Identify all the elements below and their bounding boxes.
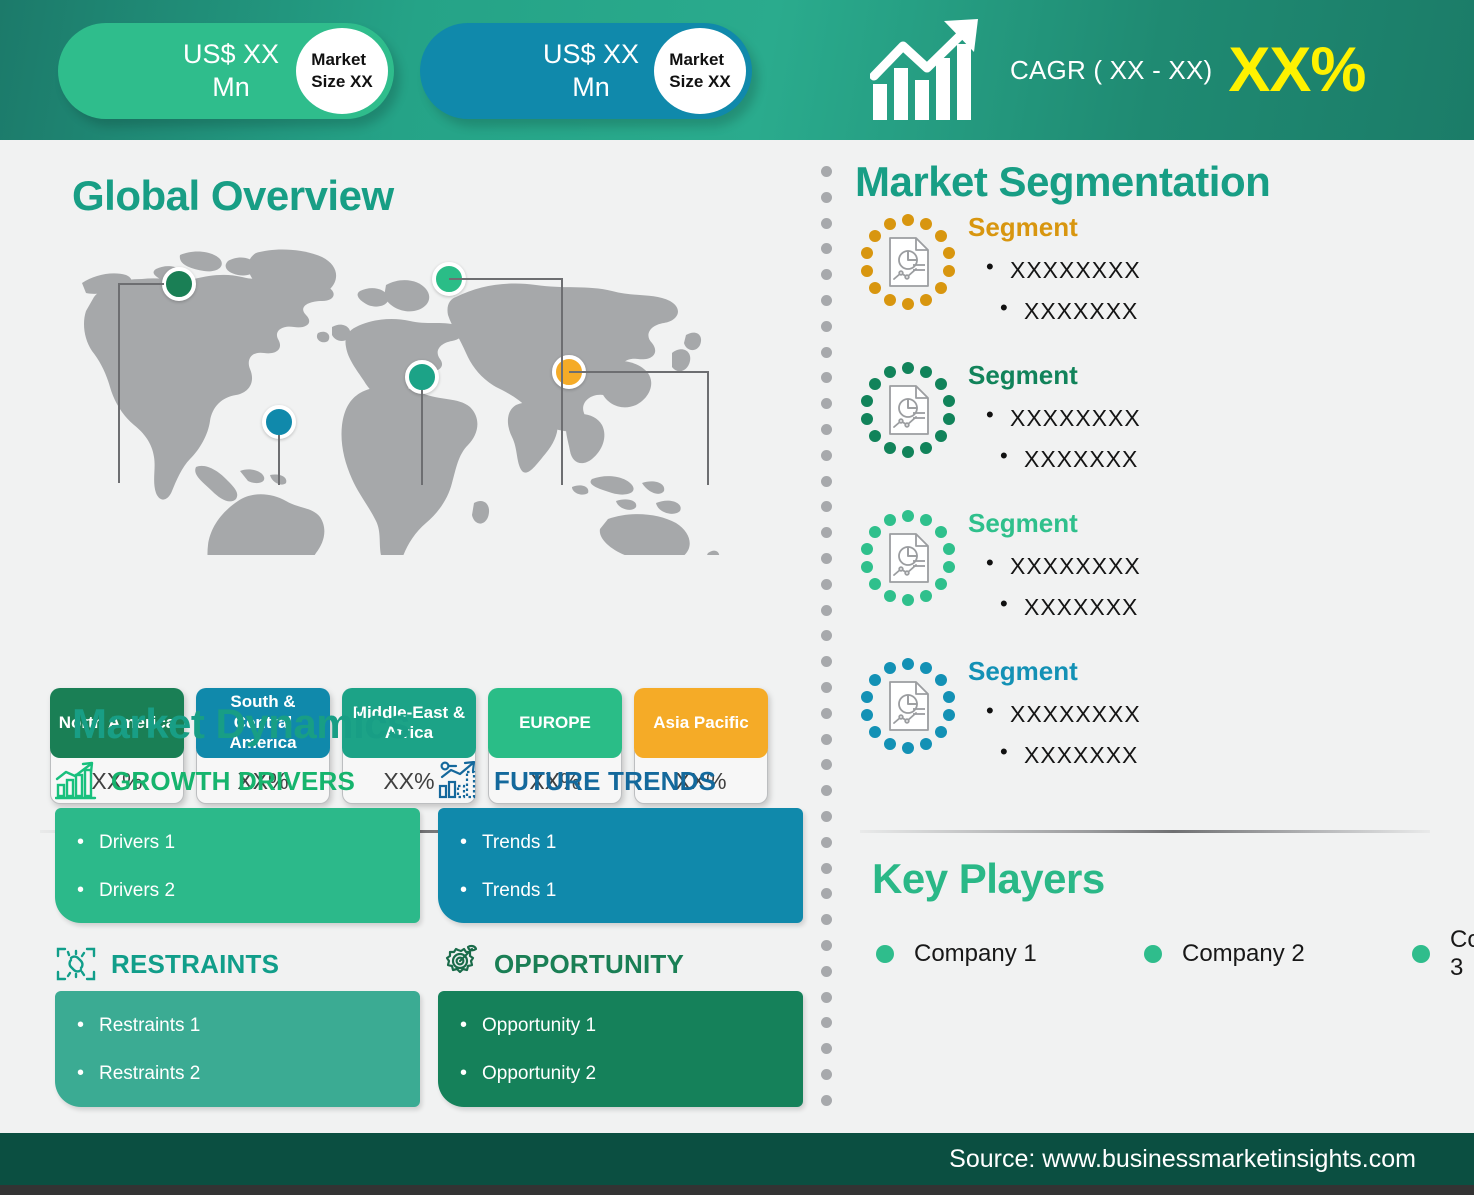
divider-dot	[821, 914, 832, 925]
dynamics-item: Opportunity 1	[456, 1013, 785, 1039]
segment-row-3: Segment XXXXXXXX XXXXXXX	[850, 654, 1470, 802]
divider-dot	[821, 1017, 832, 1028]
divider-dot	[821, 527, 832, 538]
ring-dot	[869, 674, 881, 686]
divider-dot	[821, 579, 832, 590]
market-size-left-badge: MarketSize XX	[296, 28, 388, 114]
ring-dot	[943, 395, 955, 407]
key-player-item: Company 1	[876, 925, 1144, 982]
ring-dot	[935, 282, 947, 294]
ring-dot	[943, 543, 955, 555]
ring-dot	[869, 430, 881, 442]
ring-dot	[935, 674, 947, 686]
segment-body-1: Segment XXXXXXXX XXXXXXX	[968, 360, 1448, 473]
ring-dot	[943, 709, 955, 721]
ring-dot	[920, 590, 932, 602]
segment-name-0: Segment	[968, 212, 1448, 243]
divider-dot	[821, 785, 832, 796]
bullet-dot-icon	[1144, 945, 1162, 963]
dynamics-title-future-trends: FUTURE TRENDS	[494, 766, 716, 797]
dynamics-card-opportunity: OPPORTUNITY Opportunity 1 Opportunity 2	[438, 941, 803, 1106]
ring-dot	[884, 442, 896, 454]
region-label-4: Asia Pacific	[634, 688, 768, 758]
ring-dot	[902, 658, 914, 670]
segment-row-2: Segment XXXXXXXX XXXXXXX	[850, 506, 1470, 654]
divider-dot	[821, 682, 832, 693]
segment-row-1: Segment XXXXXXXX XXXXXXX	[850, 358, 1470, 506]
ring-dot	[869, 578, 881, 590]
document-chart-icon	[883, 383, 933, 437]
divider-dot	[821, 863, 832, 874]
header-banner: US$ XXMn MarketSize XX US$ XXMn MarketSi…	[0, 0, 1474, 140]
divider-dot	[821, 553, 832, 564]
ring-dot	[884, 662, 896, 674]
footer-source: Source: www.businessmarketinsights.com	[949, 1145, 1416, 1174]
segment-row-0: Segment XXXXXXXX XXXXXXX	[850, 210, 1470, 358]
ring-dot	[902, 298, 914, 310]
cagr-label: CAGR ( XX - XX)	[1010, 55, 1212, 86]
dynamics-card-future-trends: FUTURE TRENDS Trends 1 Trends 1	[438, 758, 803, 923]
ring-dot	[884, 366, 896, 378]
ring-dot	[943, 265, 955, 277]
divider-dot	[821, 734, 832, 745]
dynamics-body-restraints: Restraints 1 Restraints 2	[55, 991, 420, 1106]
divider-dot	[821, 347, 832, 358]
divider-dot	[821, 888, 832, 899]
divider-dot	[821, 269, 832, 280]
market-size-pill-left: US$ XXMn MarketSize XX	[58, 23, 394, 119]
ring-dot	[869, 230, 881, 242]
divider-dot	[821, 708, 832, 719]
ring-dot	[902, 742, 914, 754]
ring-dot	[884, 294, 896, 306]
connector-apac-v	[707, 371, 709, 485]
divider-dot	[821, 1069, 832, 1080]
key-player-name: Company 2	[1182, 940, 1305, 968]
ring-dot	[935, 578, 947, 590]
divider-dot	[821, 759, 832, 770]
segment-item: XXXXXXXX	[978, 701, 1448, 728]
key-players-title: Key Players	[872, 855, 1105, 903]
divider-dot	[821, 424, 832, 435]
segment-body-3: Segment XXXXXXXX XXXXXXX	[968, 656, 1448, 769]
ring-dot	[902, 362, 914, 374]
right-column: Market Segmentation	[850, 140, 1474, 1130]
segment-icon-0	[860, 214, 956, 310]
ring-dot	[920, 218, 932, 230]
ring-dot	[943, 413, 955, 425]
dynamics-item: Drivers 1	[73, 830, 402, 856]
connector-north-america	[118, 283, 164, 285]
ring-dot	[869, 526, 881, 538]
document-chart-icon	[883, 531, 933, 585]
divider-dot	[821, 605, 832, 616]
connector-europe-v	[561, 278, 563, 485]
document-chart-icon	[883, 679, 933, 733]
segment-item: XXXXXXX	[978, 446, 1448, 473]
ring-dot	[902, 510, 914, 522]
map-pin-middle-east-africa	[405, 360, 439, 394]
divider-dot	[821, 476, 832, 487]
ring-dot	[935, 526, 947, 538]
segment-item: XXXXXXXX	[978, 553, 1448, 580]
divider-dot	[821, 295, 832, 306]
ring-dot	[902, 214, 914, 226]
dynamics-title-opportunity: OPPORTUNITY	[494, 949, 684, 980]
ring-dot	[884, 738, 896, 750]
key-player-name: Company 1	[914, 940, 1037, 968]
dynamics-header-opportunity: OPPORTUNITY	[438, 941, 803, 987]
ring-dot	[943, 247, 955, 259]
market-segmentation-title: Market Segmentation	[855, 158, 1270, 206]
divider-dot	[821, 940, 832, 951]
region-label-3: EUROPE	[488, 688, 622, 758]
market-size-right-badge: MarketSize XX	[654, 28, 746, 114]
ring-dot	[861, 247, 873, 259]
divider-dot	[821, 501, 832, 512]
connector-north-america-v	[118, 283, 120, 483]
segment-body-0: Segment XXXXXXXX XXXXXXX	[968, 212, 1448, 325]
dynamics-item: Drivers 2	[73, 878, 402, 904]
divider-dot	[821, 630, 832, 641]
vertical-dotted-divider	[818, 166, 834, 1106]
growth-chart-icon	[55, 761, 97, 801]
segment-item: XXXXXXX	[978, 298, 1448, 325]
cagr-value: XX%	[1228, 42, 1365, 99]
dynamics-header-future-trends: FUTURE TRENDS	[438, 758, 803, 804]
bullet-dot-icon	[876, 945, 894, 963]
market-dynamics-grid: GROWTH DRIVERS Drivers 1 Drivers 2	[55, 758, 803, 1107]
ring-dot	[935, 726, 947, 738]
divider-dot	[821, 372, 832, 383]
ring-dot	[861, 413, 873, 425]
segment-body-2: Segment XXXXXXXX XXXXXXX	[968, 508, 1448, 621]
key-player-item: Company 3	[1412, 925, 1474, 982]
segment-item: XXXXXXXX	[978, 257, 1448, 284]
ring-dot	[869, 378, 881, 390]
divider-dot	[821, 450, 832, 461]
ring-dot	[920, 662, 932, 674]
dynamics-body-growth-drivers: Drivers 1 Drivers 2	[55, 808, 420, 923]
dynamics-item: Trends 1	[456, 878, 785, 904]
trend-chart-icon	[438, 761, 480, 801]
world-map-area	[40, 235, 780, 655]
segment-list: Segment XXXXXXXX XXXXXXX	[850, 210, 1470, 802]
footer-bar: Source: www.businessmarketinsights.com	[0, 1133, 1474, 1185]
dynamics-header-growth-drivers: GROWTH DRIVERS	[55, 758, 420, 804]
divider-dot	[821, 992, 832, 1003]
ring-dot	[902, 594, 914, 606]
segment-item: XXXXXXX	[978, 594, 1448, 621]
dynamics-item: Trends 1	[456, 830, 785, 856]
segment-icon-2	[860, 510, 956, 606]
segment-item: XXXXXXX	[978, 742, 1448, 769]
divider-dot	[821, 243, 832, 254]
connector-apac-h	[569, 371, 709, 373]
ring-dot	[920, 514, 932, 526]
dynamics-title-growth-drivers: GROWTH DRIVERS	[111, 766, 355, 797]
dynamics-card-restraints: RESTRAINTS Restraints 1 Restraints 2	[55, 941, 420, 1106]
ring-dot	[884, 590, 896, 602]
ring-dot	[920, 442, 932, 454]
segment-icon-3	[860, 658, 956, 754]
segment-name-2: Segment	[968, 508, 1448, 539]
document-chart-icon	[883, 235, 933, 289]
ring-dot	[861, 543, 873, 555]
segment-item: XXXXXXXX	[978, 405, 1448, 432]
divider-dot	[821, 166, 832, 177]
ring-dot	[861, 709, 873, 721]
right-section-divider	[860, 830, 1430, 833]
dynamics-title-restraints: RESTRAINTS	[111, 949, 279, 980]
market-dynamics-title: Market Dynamics	[72, 700, 410, 748]
ring-dot	[920, 738, 932, 750]
ring-dot	[861, 691, 873, 703]
ring-dot	[920, 366, 932, 378]
footer-bottom-strip	[0, 1185, 1474, 1195]
divider-dot	[821, 218, 832, 229]
ring-dot	[935, 430, 947, 442]
divider-dot	[821, 192, 832, 203]
ring-dot	[935, 378, 947, 390]
ring-dot	[861, 395, 873, 407]
key-players-list: Company 1 Company 2 Company 3 Company 4 …	[876, 925, 1456, 982]
dynamics-item: Restraints 1	[73, 1013, 402, 1039]
divider-dot	[821, 1043, 832, 1054]
ring-dot	[869, 282, 881, 294]
ring-dot	[884, 514, 896, 526]
global-overview-title: Global Overview	[72, 172, 394, 220]
key-player-name: Company 3	[1450, 926, 1474, 982]
ring-dot	[902, 446, 914, 458]
divider-dot	[821, 811, 832, 822]
dynamics-card-growth-drivers: GROWTH DRIVERS Drivers 1 Drivers 2	[55, 758, 420, 923]
dynamics-item: Restraints 2	[73, 1061, 402, 1087]
key-player-item: Company 2	[1144, 925, 1412, 982]
dynamics-header-restraints: RESTRAINTS	[55, 941, 420, 987]
map-pin-north-america	[162, 267, 196, 301]
cagr-block: CAGR ( XX - XX) XX%	[870, 14, 1365, 126]
divider-dot	[821, 656, 832, 667]
map-pin-south-america	[262, 405, 296, 439]
ring-dot	[943, 561, 955, 573]
gear-target-icon	[438, 944, 480, 984]
bullet-dot-icon	[1412, 945, 1430, 963]
dynamics-item: Opportunity 2	[456, 1061, 785, 1087]
ring-dot	[920, 294, 932, 306]
segment-name-3: Segment	[968, 656, 1448, 687]
divider-dot	[821, 398, 832, 409]
segment-name-1: Segment	[968, 360, 1448, 391]
market-size-pill-right: US$ XXMn MarketSize XX	[420, 23, 752, 119]
ring-dot	[943, 691, 955, 703]
connector-europe-h	[449, 278, 563, 280]
connector-mea-v	[421, 390, 423, 485]
segment-icon-1	[860, 362, 956, 458]
ring-dot	[935, 230, 947, 242]
divider-dot	[821, 966, 832, 977]
ring-dot	[884, 218, 896, 230]
divider-dot	[821, 321, 832, 332]
chain-link-scan-icon	[55, 944, 97, 984]
ring-dot	[861, 265, 873, 277]
ring-dot	[861, 561, 873, 573]
bar-chart-growth-icon	[870, 18, 988, 123]
dynamics-body-opportunity: Opportunity 1 Opportunity 2	[438, 991, 803, 1106]
divider-dot	[821, 1095, 832, 1106]
divider-dot	[821, 837, 832, 848]
dynamics-body-future-trends: Trends 1 Trends 1	[438, 808, 803, 923]
connector-south-america-v	[278, 435, 280, 485]
left-column: Global Overview	[0, 140, 812, 1130]
ring-dot	[869, 726, 881, 738]
